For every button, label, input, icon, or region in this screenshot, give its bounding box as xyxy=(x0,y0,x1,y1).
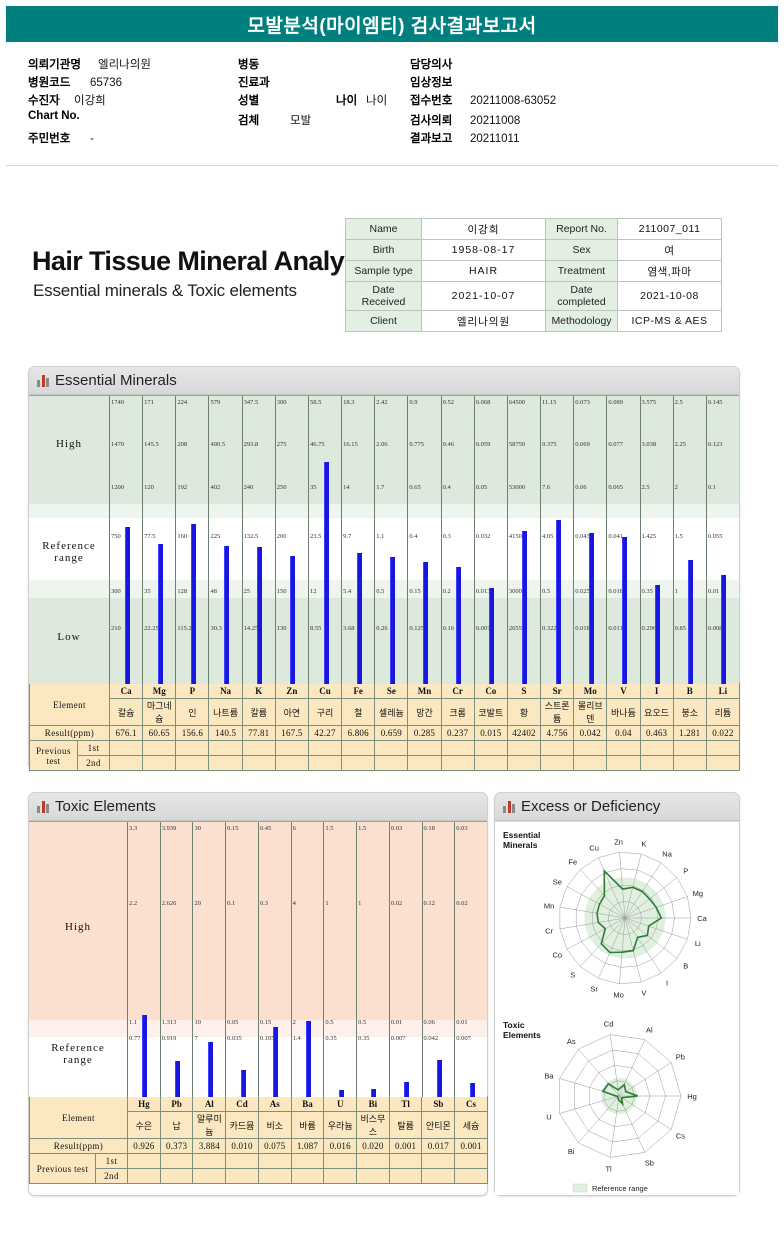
tick-label: 0.055 xyxy=(708,533,723,540)
bar-Cd xyxy=(241,1070,246,1098)
chart-column-Co: 0.0680.0590.050.0320.0130.007 xyxy=(474,396,507,684)
radar-axis-label: Zn xyxy=(614,837,623,846)
header-field-14: 결과보고20211011 xyxy=(410,130,519,146)
info-value: 엘리나의원 xyxy=(422,311,546,332)
element-symbol: P xyxy=(176,684,209,699)
tick-label: 0.007 xyxy=(391,1035,406,1042)
result-row: Result(ppm)676.160.65156.6140.577.81167.… xyxy=(30,726,740,741)
tick-label: 120 xyxy=(144,484,154,491)
header-field-9: 검체모발 xyxy=(238,112,311,128)
tick-label: 0.5 xyxy=(358,1019,366,1026)
previous-test-cell xyxy=(143,741,176,756)
header-field-label: 병동 xyxy=(238,56,290,72)
tick-label: 9.375 xyxy=(542,441,557,448)
tick-label: 2.06 xyxy=(376,441,387,448)
header-field-label: 주민번호 xyxy=(28,130,90,146)
tick-label: 402 xyxy=(210,484,220,491)
tick-label: 0.042 xyxy=(424,1035,439,1042)
header-field-0: 의뢰기관명엘리나의원 xyxy=(28,56,151,72)
result-value: 0.237 xyxy=(441,726,474,741)
element-header-label: Element xyxy=(30,684,110,726)
previous-test-cell xyxy=(673,756,706,771)
element-name-kr: 인 xyxy=(176,699,209,726)
info-table-row: Date Received2021-10-07Date completed202… xyxy=(346,282,722,311)
radar-axis-label: Fe xyxy=(568,857,577,866)
header-field-value: 이강희 xyxy=(74,95,106,107)
tick-label: 1470 xyxy=(111,441,124,448)
previous-test-cell xyxy=(209,741,242,756)
tick-label: 0.068 xyxy=(476,399,491,406)
tick-label: 14.25 xyxy=(244,625,259,632)
element-name-kr: 코발트 xyxy=(474,699,507,726)
bar-Mg xyxy=(158,544,163,684)
tick-label: 0.02 xyxy=(391,900,402,907)
result-value: 0.020 xyxy=(357,1139,390,1154)
previous-test-cell xyxy=(706,741,739,756)
tick-label: 0.073 xyxy=(575,399,590,406)
bar-S xyxy=(522,531,527,684)
previous-test-cell xyxy=(242,741,275,756)
tick-label: 0.007 xyxy=(476,625,491,632)
element-name-kr: 납 xyxy=(160,1112,193,1139)
tick-label: 0.35 xyxy=(642,588,653,595)
tick-label: 160 xyxy=(177,533,187,540)
tick-label: 192 xyxy=(177,484,187,491)
previous-test-cell xyxy=(160,1169,193,1184)
radar-axis-label: Na xyxy=(662,850,672,859)
bar-Li xyxy=(721,575,726,684)
legend-swatch xyxy=(573,1184,587,1192)
radar-charts-area: CaMgPNaKZnCuFeSeMnCrCoSSrMoVIBLiEssentia… xyxy=(495,821,739,1195)
previous-test-cell xyxy=(357,1154,390,1169)
radar-axis-label: Sb xyxy=(645,1158,654,1167)
tick-label: 0.77 xyxy=(129,1035,140,1042)
header-field-11: 임상정보 xyxy=(410,74,470,90)
element-name-kr: 수은 xyxy=(128,1112,161,1139)
tick-label: 0.775 xyxy=(409,441,424,448)
element-name-kr: 철 xyxy=(342,699,375,726)
patient-info-table: Name이강희Report No.211007_011Birth1958-08-… xyxy=(345,218,722,332)
header-field-1: 병원코드65736 xyxy=(28,74,122,90)
header-field-value: 나이 xyxy=(366,95,387,107)
previous-test-cell xyxy=(324,1169,357,1184)
chart-column-Pb: 3.9392.6261.3130.919 xyxy=(160,822,193,1097)
radar-axis-label: Mn xyxy=(544,901,554,910)
previous-test-cell xyxy=(193,1154,226,1169)
tick-label: 0.3 xyxy=(443,533,451,540)
header-field-label: 병원코드 xyxy=(28,74,90,90)
essential-minerals-panel: Essential Minerals HighReferencerangeLow… xyxy=(28,366,740,770)
info-key: Treatment xyxy=(546,261,618,282)
previous-test-row: 2nd xyxy=(30,1169,488,1184)
banner-title: 모발분석(마이엠티) 검사결과보고서 xyxy=(247,11,536,38)
previous-test-cell xyxy=(408,756,441,771)
tick-label: 0.52 xyxy=(443,399,454,406)
element-symbol: Bi xyxy=(357,1097,390,1112)
chart-column-Mg: 171145.512077.53522.25 xyxy=(142,396,175,684)
element-name-kr: 비스무스 xyxy=(357,1112,390,1139)
tick-label: 10 xyxy=(194,1019,201,1026)
header-field-label: 나이 xyxy=(336,92,366,108)
tick-label: 0.03 xyxy=(456,825,467,832)
element-name-kr: 리튬 xyxy=(706,699,739,726)
element-symbol: Hg xyxy=(128,1097,161,1112)
chart-column-Sb: 0.180.120.060.042 xyxy=(422,822,455,1097)
tick-label: 0.06 xyxy=(424,1019,435,1026)
essential-element-table: ElementCaMgPNaKZnCuFeSeMnCrCoSSrMoVIBLi칼… xyxy=(29,683,739,771)
element-name-kr: 셀레늄 xyxy=(375,699,408,726)
element-symbol: I xyxy=(640,684,673,699)
element-symbol: Fe xyxy=(342,684,375,699)
header-field-label: 수진자 xyxy=(28,92,74,108)
radar-axis-label: Bi xyxy=(568,1147,575,1156)
bar-chart-icon xyxy=(503,800,515,813)
chart-column-Sr: 11.159.3757.64.050.50.322 xyxy=(540,396,573,684)
previous-test-cell xyxy=(176,741,209,756)
essential-chart-area: HighReferencerangeLow1740147012007503002… xyxy=(29,395,739,683)
tick-label: 58.5 xyxy=(310,399,321,406)
tick-label: 1.313 xyxy=(162,1019,177,1026)
element-name-kr: 아연 xyxy=(275,699,308,726)
tick-label: 2 xyxy=(293,1019,296,1026)
element-symbol: Ca xyxy=(110,684,143,699)
previous-test-cell xyxy=(291,1169,324,1184)
previous-test-cell xyxy=(541,756,574,771)
result-value: 42402 xyxy=(507,726,540,741)
previous-test-cell xyxy=(110,756,143,771)
element-name-kr: 붕소 xyxy=(673,699,706,726)
header-field-4: 주민번호- xyxy=(28,130,94,146)
tick-label: 16.15 xyxy=(343,441,358,448)
previous-test-cell xyxy=(209,756,242,771)
tick-label: 2.5 xyxy=(675,399,683,406)
bar-Na xyxy=(224,546,229,684)
chart-column-U: 1.510.50.35 xyxy=(323,822,356,1097)
tick-label: 18.3 xyxy=(343,399,354,406)
previous-test-cell xyxy=(143,756,176,771)
info-key: Methodology xyxy=(546,311,618,332)
header-field-label: Chart No. xyxy=(28,110,80,122)
element-symbol: Pb xyxy=(160,1097,193,1112)
tick-label: 0.025 xyxy=(575,588,590,595)
element-symbol-row: ElementCaMgPNaKZnCuFeSeMnCrCoSSrMoVIBLi xyxy=(30,684,740,699)
tick-label: 1 xyxy=(325,900,328,907)
result-value: 77.81 xyxy=(242,726,275,741)
tick-label: 0.5 xyxy=(542,588,550,595)
bar-Tl xyxy=(404,1082,409,1097)
tick-label: 0.18 xyxy=(424,825,435,832)
previous-test-cell xyxy=(455,1154,488,1169)
radar-axis-label: Li xyxy=(695,939,701,948)
element-name-kr: 칼슘 xyxy=(110,699,143,726)
element-name-kr: 구리 xyxy=(308,699,341,726)
tick-label: 1.1 xyxy=(129,1019,137,1026)
radar-axis-label: Ba xyxy=(544,1071,554,1080)
tick-label: 25 xyxy=(244,588,251,595)
tick-label: 0.2 xyxy=(443,588,451,595)
radar-axis-label: K xyxy=(641,839,646,848)
header-field-value: 엘리나의원 xyxy=(98,59,151,71)
element-name-kr: 마그네슘 xyxy=(143,699,176,726)
element-symbol: Se xyxy=(375,684,408,699)
info-key: Date completed xyxy=(546,282,618,311)
previous-test-cell xyxy=(507,756,540,771)
tick-label: 0.013 xyxy=(476,588,491,595)
bar-Mn xyxy=(423,562,428,684)
element-header-label: Element xyxy=(30,1097,128,1139)
result-value: 3.884 xyxy=(193,1139,226,1154)
previous-test-cell xyxy=(455,1169,488,1184)
element-name-kr: 바륨 xyxy=(291,1112,324,1139)
tick-label: 3.939 xyxy=(162,825,177,832)
element-symbol: Cs xyxy=(455,1097,488,1112)
tick-label: 300 xyxy=(111,588,121,595)
previous-test-cell xyxy=(441,756,474,771)
result-value: 0.04 xyxy=(607,726,640,741)
tick-label: 1.425 xyxy=(642,533,657,540)
previous-test-row: Previous test1st xyxy=(30,741,740,756)
tick-label: 750 xyxy=(111,533,121,540)
bar-chart-icon xyxy=(37,800,49,813)
tick-label: 6 xyxy=(293,825,296,832)
tick-label: 2.42 xyxy=(376,399,387,406)
previous-test-cell xyxy=(541,741,574,756)
info-key: Report No. xyxy=(546,219,618,240)
tick-label: 0.059 xyxy=(476,441,491,448)
page-subtitle: Essential minerals & Toxic elements xyxy=(33,281,297,301)
radar-axis-label: U xyxy=(546,1113,551,1122)
tick-label: 30 xyxy=(194,825,201,832)
tick-label: 8.55 xyxy=(310,625,321,632)
tick-label: 115.2 xyxy=(177,625,191,632)
tick-label: 171 xyxy=(144,399,154,406)
radar-axis-label: Cr xyxy=(545,927,553,936)
tick-label: 1.5 xyxy=(675,533,683,540)
bar-chart-icon xyxy=(37,374,49,387)
tick-label: 0.5 xyxy=(376,588,384,595)
result-value: 0.001 xyxy=(389,1139,422,1154)
result-row-label: Result(ppm) xyxy=(30,1139,128,1154)
previous-test-cell xyxy=(242,756,275,771)
previous-test-cell xyxy=(474,756,507,771)
tick-label: 35 xyxy=(144,588,151,595)
chart-column-I: 3.5753.0382.51.4250.350.296 xyxy=(640,396,673,684)
tick-label: 48 xyxy=(210,588,217,595)
element-name-kr: 세슘 xyxy=(455,1112,488,1139)
tick-label: 0.26 xyxy=(376,625,387,632)
toxic-elements-title: Toxic Elements xyxy=(55,798,156,815)
previous-test-cell xyxy=(342,741,375,756)
header-field-5: 병동 xyxy=(238,56,290,72)
tick-label: 579 xyxy=(210,399,220,406)
header-field-value: 20211008-63052 xyxy=(470,95,556,107)
tick-label: 1 xyxy=(358,900,361,907)
previous-test-label: Previous test xyxy=(30,741,78,771)
essential-minerals-header: Essential Minerals xyxy=(29,367,739,395)
chart-column-Mn: 0.90.7750.650.40.150.125 xyxy=(407,396,440,684)
patient-header: 의뢰기관명엘리나의원병원코드65736수진자이강희Chart No.주민번호-병… xyxy=(6,50,778,166)
info-value: 211007_011 xyxy=(618,219,722,240)
header-field-3: Chart No. xyxy=(28,110,80,122)
result-value: 0.016 xyxy=(324,1139,357,1154)
result-value: 0.659 xyxy=(375,726,408,741)
header-field-2: 수진자이강희 xyxy=(28,92,106,108)
chart-column-Cu: 58.546.753523.5128.55 xyxy=(308,396,341,684)
result-value: 0.285 xyxy=(408,726,441,741)
header-field-value: 20211008 xyxy=(470,115,520,127)
info-value: 2021-10-07 xyxy=(422,282,546,311)
header-field-label: 임상정보 xyxy=(410,74,470,90)
tick-label: 0.15 xyxy=(227,825,238,832)
element-symbol: Cd xyxy=(226,1097,259,1112)
previous-test-cell xyxy=(507,741,540,756)
header-field-label: 의뢰기관명 xyxy=(28,56,98,72)
tick-label: 46.75 xyxy=(310,441,325,448)
element-symbol: K xyxy=(242,684,275,699)
previous-test-cell xyxy=(574,741,607,756)
radar-axis-label: S xyxy=(570,971,575,980)
tick-label: 3.68 xyxy=(343,625,354,632)
zone-label-reference-range: Referencerange xyxy=(29,1042,127,1066)
tick-label: 0.069 xyxy=(575,441,590,448)
tick-label: 1.5 xyxy=(358,825,366,832)
tick-label: 224 xyxy=(177,399,187,406)
element-symbol: V xyxy=(607,684,640,699)
previous-test-ordinal: 1st xyxy=(96,1154,128,1169)
element-name-kr: 카드뮴 xyxy=(226,1112,259,1139)
info-key: Birth xyxy=(346,240,422,261)
previous-test-cell xyxy=(574,756,607,771)
tick-label: 150 xyxy=(277,588,287,595)
tick-label: 275 xyxy=(277,441,287,448)
radar-axis-label: Co xyxy=(553,951,563,960)
zone-label-reference-range: Referencerange xyxy=(29,540,109,564)
bar-Mo xyxy=(589,533,594,684)
info-key: Client xyxy=(346,311,422,332)
element-symbol: Mn xyxy=(408,684,441,699)
previous-test-cell xyxy=(607,756,640,771)
tick-label: 0.02 xyxy=(456,900,467,907)
element-symbol: Ba xyxy=(291,1097,324,1112)
tick-label: 77.5 xyxy=(144,533,155,540)
element-name-kr: 칼륨 xyxy=(242,699,275,726)
tick-label: 1.4 xyxy=(293,1035,301,1042)
tick-label: 7.6 xyxy=(542,484,550,491)
previous-test-cell xyxy=(160,1154,193,1169)
tick-label: 0.018 xyxy=(575,625,590,632)
chart-column-K: 347.5293.8240132.52514.25 xyxy=(242,396,275,684)
element-symbol: Li xyxy=(706,684,739,699)
info-table-row: Sample typeHAIRTreatment염색,파마 xyxy=(346,261,722,282)
bar-Cu xyxy=(324,462,329,684)
tick-label: 1740 xyxy=(111,399,124,406)
header-field-7: 성별 xyxy=(238,92,290,108)
bar-Al xyxy=(208,1042,213,1097)
chart-column-S: 645005875053000415003000026550 xyxy=(507,396,540,684)
header-field-value: 20211011 xyxy=(470,133,519,145)
element-symbol: As xyxy=(258,1097,291,1112)
tick-label: 300 xyxy=(277,399,287,406)
tick-label: 0.05 xyxy=(476,484,487,491)
element-symbol: Sr xyxy=(541,684,574,699)
previous-test-cell xyxy=(291,1154,324,1169)
bar-V xyxy=(622,537,627,684)
tick-label: 2.5 xyxy=(642,484,650,491)
tick-label: 0.1 xyxy=(227,900,235,907)
element-symbol: Zn xyxy=(275,684,308,699)
previous-test-cell xyxy=(706,756,739,771)
info-value: 1958-08-17 xyxy=(422,240,546,261)
result-value: 156.6 xyxy=(176,726,209,741)
header-field-6: 진료과 xyxy=(238,74,290,90)
element-korean-row: 칼슘마그네슘인나트륨칼륨아연구리철셀레늄망간크롬코발트황스트론튬몰리브덴바나듐요… xyxy=(30,699,740,726)
radar-axis-label: As xyxy=(567,1037,576,1046)
element-symbol: S xyxy=(507,684,540,699)
tick-label: 0.007 xyxy=(456,1035,471,1042)
tick-label: 12 xyxy=(310,588,317,595)
previous-test-cell xyxy=(357,1169,390,1184)
radar-axis-label: Cu xyxy=(589,844,599,853)
element-symbol: Cr xyxy=(441,684,474,699)
previous-test-ordinal: 2nd xyxy=(78,756,110,771)
bar-Co xyxy=(489,588,494,684)
bar-Cs xyxy=(470,1083,475,1097)
chart-column-Mo: 0.0730.0690.060.0430.0250.018 xyxy=(573,396,606,684)
result-value: 0.022 xyxy=(706,726,739,741)
chart-column-Zn: 300275250200150130 xyxy=(275,396,308,684)
info-key: Date Received xyxy=(346,282,422,311)
tick-label: 20 xyxy=(194,900,201,907)
zone-label-high: High xyxy=(29,438,109,450)
report-banner: 모발분석(마이엠티) 검사결과보고서 xyxy=(6,6,778,42)
tick-label: 2.25 xyxy=(675,441,686,448)
chart-column-Cs: 0.030.020.010.007 xyxy=(454,822,487,1097)
info-table-row: Birth1958-08-17Sex여 xyxy=(346,240,722,261)
tick-label: 0.5 xyxy=(325,1019,333,1026)
radar-axis-label: I xyxy=(666,979,668,988)
element-name-kr: 요오드 xyxy=(640,699,673,726)
previous-test-cell xyxy=(607,741,640,756)
header-field-label: 접수번호 xyxy=(410,92,470,108)
tick-label: 0.011 xyxy=(608,625,622,632)
tick-label: 22.25 xyxy=(144,625,159,632)
bar-B xyxy=(688,560,693,684)
toxic-elements-header: Toxic Elements xyxy=(29,793,487,821)
radar-toxic-elements: HgPbAlCdAsBaUBiTlSbCsToxicElementsRefere… xyxy=(495,1012,739,1196)
tick-label: 14 xyxy=(343,484,350,491)
tick-label: 0.296 xyxy=(642,625,657,632)
tick-label: 0.1 xyxy=(708,484,716,491)
info-value: ICP-MS & AES xyxy=(618,311,722,332)
result-row-label: Result(ppm) xyxy=(30,726,110,741)
tick-label: 0.01 xyxy=(391,1019,402,1026)
result-value: 60.65 xyxy=(143,726,176,741)
info-value: 2021-10-08 xyxy=(618,282,722,311)
previous-test-ordinal: 1st xyxy=(78,741,110,756)
element-name-kr: 스트론튬 xyxy=(541,699,574,726)
element-name-kr: 비소 xyxy=(258,1112,291,1139)
tick-label: 0.12 xyxy=(424,900,435,907)
tick-label: 0.018 xyxy=(608,588,623,595)
header-field-label: 진료과 xyxy=(238,74,290,90)
tick-label: 347.5 xyxy=(244,399,259,406)
tick-label: 0.45 xyxy=(260,825,271,832)
tick-label: 0.145 xyxy=(708,399,723,406)
radar-essential-minerals: CaMgPNaKZnCuFeSeMnCrCoSSrMoVIBLiEssentia… xyxy=(495,822,739,1018)
tick-label: 1.1 xyxy=(376,533,384,540)
tick-label: 3.3 xyxy=(129,825,137,832)
tick-label: 0.35 xyxy=(325,1035,336,1042)
